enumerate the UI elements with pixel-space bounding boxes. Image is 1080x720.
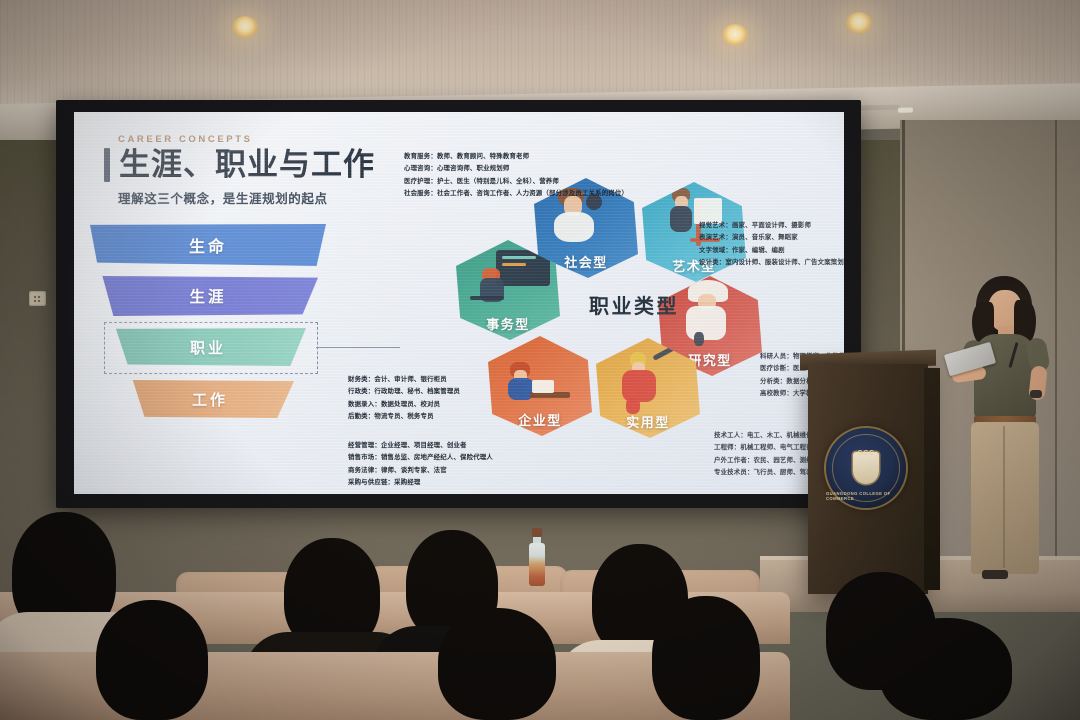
speaker-person: [946, 276, 1066, 596]
audience-head: [438, 608, 556, 720]
hex-petal-label: 事务型: [486, 314, 530, 333]
page-title: 生涯、职业与工作: [119, 150, 375, 181]
slide-kicker: CAREER CONCEPTS: [118, 134, 253, 145]
hex-center-label: 职业类型: [589, 290, 679, 319]
career-funnel-diagram: 生命 生涯 职业 工作: [90, 224, 340, 454]
power-outlet-icon: [29, 291, 46, 306]
crest-text: GUANGDONG COLLEGE OF COMMERCE: [826, 491, 906, 501]
presentation-screen: CAREER CONCEPTS 生涯、职业与工作 理解这三个概念，是生涯规划的起…: [74, 112, 844, 494]
water-bottle: [528, 528, 546, 586]
bottle-body: [529, 543, 545, 586]
annotation-line: 教育服务：教师、教育顾问、特殊教育老师: [404, 150, 628, 162]
downlight-icon: [232, 16, 258, 38]
funnel-layer-career: 生涯: [98, 276, 318, 316]
audience-head: [652, 596, 760, 720]
annotation-line: 设计类：室内设计师、服装设计师、广告文案策划: [699, 256, 844, 268]
title-accent-bar: [104, 148, 110, 182]
audience-head: [880, 618, 1012, 720]
speaker-trousers: [971, 422, 1039, 574]
soffit-led-icon: [898, 107, 913, 112]
hex-petal-label: 实用型: [626, 412, 670, 431]
annotation-line: 社会服务：社会工作者、咨询工作者、人力资源（部分涉及员工关系的岗位）: [404, 187, 628, 199]
slide-subtitle: 理解这三个概念，是生涯规划的起点: [118, 188, 328, 207]
annotation-line: 表演艺术：演员、音乐家、舞蹈家: [699, 231, 844, 243]
annotation-line: 户外工作者：农民、园艺师、测绘员: [714, 454, 819, 466]
college-crest: GCC GUANGDONG COLLEGE OF COMMERCE: [826, 428, 906, 508]
funnel-layer-label: 生命: [189, 233, 227, 257]
annotation-line: 采购与供应链：采购经理: [348, 476, 493, 488]
hex-petal-label: 社会型: [564, 252, 608, 271]
annotation-list-social: 教育服务：教师、教育顾问、特殊教育老师 心理咨询：心理咨询师、职业规划师 医疗护…: [404, 150, 628, 200]
annotation-list-enterprising: 经营管理：企业经理、项目经理、创业者 销售市场：销售总监、房地产经纪人、保险代理…: [348, 439, 493, 489]
annotation-line: 数据录入：数据处理员、校对员: [348, 398, 460, 410]
annotation-line: 后勤类：物流专员、税务专员: [348, 410, 460, 422]
annotation-line: 商务法律：律师、谈判专家、法官: [348, 464, 493, 476]
career-type-hex-cluster: 社会型 艺术型 研究型: [446, 178, 746, 440]
downlight-icon: [722, 24, 748, 46]
podium-side-panel: [924, 368, 940, 590]
downlight-icon: [846, 12, 872, 34]
trouser-crease: [1003, 426, 1005, 568]
hex-petal-label: 企业型: [518, 410, 562, 429]
funnel-connector-line: [316, 347, 400, 348]
wristwatch-icon: [1030, 390, 1042, 398]
annotation-line: 行政类：行政助理、秘书、档案管理员: [348, 385, 460, 397]
funnel-layer-label: 工作: [192, 389, 228, 410]
annotation-line: 文字领域：作家、编辑、编剧: [699, 244, 844, 256]
annotation-line: 销售市场：销售总监、房地产经纪人、保险代理人: [348, 451, 493, 463]
funnel-layer-job: 工作: [126, 380, 294, 418]
annotation-line: 专业技术员：飞行员、厨师、驾驶员: [714, 466, 819, 478]
annotation-line: 视觉艺术：画家、平面设计师、摄影师: [699, 219, 844, 231]
funnel-layer-label: 生涯: [189, 285, 226, 307]
funnel-highlight-box: [104, 322, 318, 374]
annotation-line: 经营管理：企业经理、项目经理、创业者: [348, 439, 493, 451]
annotation-list-practical: 技术工人：电工、木工、机械维修工 工程师：机械工程师、电气工程师 户外工作者：农…: [714, 429, 819, 479]
annotation-line: 财务类：会计、审计师、银行柜员: [348, 373, 460, 385]
bottle-cap: [532, 528, 542, 537]
annotation-line: 心理咨询：心理咨询师、职业规划师: [404, 162, 628, 174]
funnel-layer-life: 生命: [90, 224, 326, 266]
annotation-list-artistic: 视觉艺术：画家、平面设计师、摄影师 表演艺术：演员、音乐家、舞蹈家 文字领域：作…: [699, 219, 844, 269]
lecture-hall-photo: CAREER CONCEPTS 生涯、职业与工作 理解这三个概念，是生涯规划的起…: [0, 0, 1080, 720]
audience-head: [96, 600, 208, 720]
annotation-line: 医疗护理：护士、医生（特别是儿科、全科）、营养师: [404, 175, 628, 187]
speaker-shoe: [982, 570, 1008, 579]
annotation-line: 技术工人：电工、木工、机械维修工: [714, 429, 819, 441]
slide-title-row: 生涯、职业与工作: [104, 148, 375, 182]
hex-center-label-wrap: 职业类型: [564, 278, 704, 330]
annotation-line: 工程师：机械工程师、电气工程师: [714, 441, 819, 453]
crest-monogram: GCC: [857, 450, 874, 457]
hex-petal-enterprising: 企业型: [488, 336, 592, 436]
annotation-list-clerical: 财务类：会计、审计师、银行柜员 行政类：行政助理、秘书、档案管理员 数据录入：数…: [348, 373, 460, 423]
